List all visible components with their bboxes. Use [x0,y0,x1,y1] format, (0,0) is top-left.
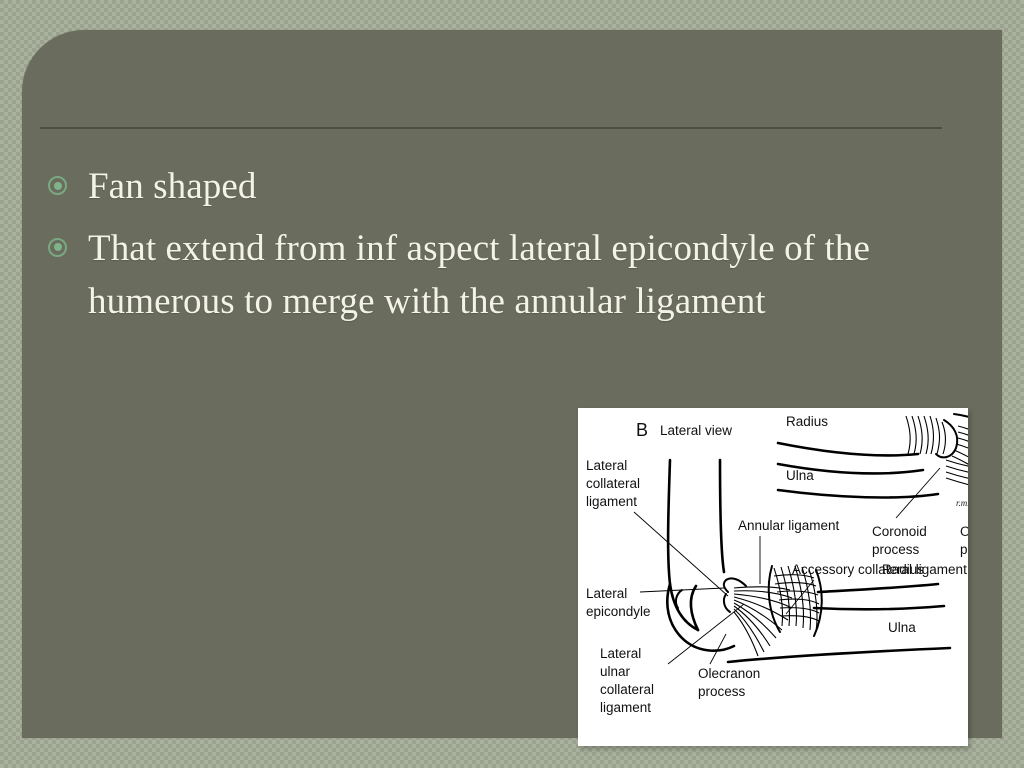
label-lateral-ulnar-collateral-ligament-line3: collateral [600,682,654,697]
bullet-list: Fan shaped That extend from inf aspect l… [42,160,942,337]
label-lateral-ulnar-collateral-ligament-line2: ulnar [600,664,631,679]
label-lateral-collateral-ligament-line3: ligament [586,494,637,509]
figure-panel-letter: B [636,420,648,440]
bullet-item-2: That extend from inf aspect lateral epic… [42,222,942,329]
label-olecranon-process-bottom-line2: process [698,684,746,699]
label-lateral-ulnar-collateral-ligament-line4: ligament [600,700,651,715]
label-annular-ligament: Annular ligament [738,518,840,533]
title-divider-rule [40,127,942,129]
anatomy-figure-image: B Lateral view Radius Ulna [578,408,968,746]
label-lateral-epicondyle-line2: epicondyle [586,604,651,619]
label-lateral-ulnar-collateral-ligament-line1: Lateral [600,646,641,661]
figure-signature: r.m. [956,498,968,508]
label-lateral-collateral-ligament-line2: collateral [586,476,640,491]
label-olecranon-process-bottom-line1: Olecranon [698,666,760,681]
label-lateral-collateral-ligament-line1: Lateral [586,458,627,473]
bullet-text: Fan shaped [88,166,257,207]
bullet-target-icon [48,176,67,195]
label-olecranon-process-right-line1: Olecra [960,524,968,539]
label-coronoid-process-line1: Coronoid [872,524,927,539]
label-ulna-top: Ulna [786,468,814,483]
label-radius-top: Radius [786,414,828,429]
label-lateral-epicondyle-line1: Lateral [586,586,627,601]
label-coronoid-process-line2: process [872,542,920,557]
elbow-lateral-view-diagram: B Lateral view Radius Ulna [578,408,968,746]
bullet-text: That extend from inf aspect lateral epic… [88,228,870,323]
presentation-slide: Fan shaped That extend from inf aspect l… [0,0,1024,768]
label-ulna-bottom: Ulna [888,620,916,635]
label-radius-bottom: Radius [882,562,924,577]
bullet-item-1: Fan shaped [42,160,942,214]
label-olecranon-process-right-line2: proces [960,542,968,557]
figure-view-label: Lateral view [660,423,732,438]
bullet-target-icon [48,238,67,257]
